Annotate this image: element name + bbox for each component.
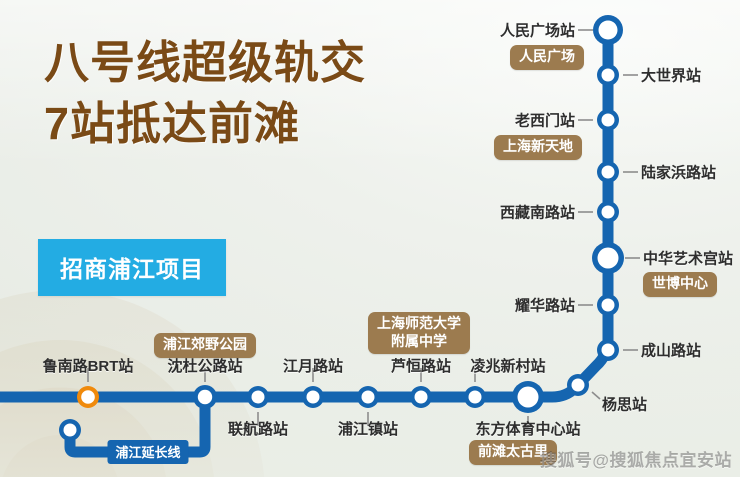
station-marker-pujiangzhen[interactable] <box>357 386 379 408</box>
station-marker-chengshanlu[interactable] <box>597 339 619 361</box>
station-marker-dashijie[interactable] <box>597 64 619 86</box>
station-marker-lingzhaoxincun[interactable] <box>464 386 486 408</box>
station-marker-shendugonglu[interactable] <box>193 385 217 409</box>
watermark: 搜狐号@搜狐焦点宜安站 <box>540 446 732 471</box>
station-marker-luhenglu[interactable] <box>410 386 432 408</box>
station-marker-zhonghuayishugong[interactable] <box>592 242 624 274</box>
station-marker-laoximen[interactable] <box>597 109 619 131</box>
station-marker-pujiang-extension-terminus[interactable] <box>59 419 81 441</box>
tick-yangsi <box>592 392 600 399</box>
station-marker-yangsi[interactable] <box>567 374 589 396</box>
headline-line-2: 7站抵达前滩 <box>44 101 366 146</box>
headline-line-1: 八号线超级轨交 <box>44 40 366 85</box>
station-marker-dongfangtiyuzhongxin[interactable] <box>512 381 544 413</box>
station-marker-yaohualu[interactable] <box>597 294 619 316</box>
project-badge: 招商浦江项目 <box>38 239 226 296</box>
station-marker-xizangnanlu[interactable] <box>597 201 619 223</box>
metro-line-poster: 八号线超级轨交 7站抵达前滩 招商浦江项目 <box>0 0 740 477</box>
station-marker-renmin-guangchang[interactable] <box>593 15 623 45</box>
headline-block: 八号线超级轨交 7站抵达前滩 <box>44 40 366 146</box>
station-marker-lujiabang[interactable] <box>597 161 619 183</box>
station-marker-lianhanglu[interactable] <box>247 386 269 408</box>
station-marker-jiangyuelu[interactable] <box>302 386 324 408</box>
station-marker-lunanlu-brt[interactable] <box>77 386 99 408</box>
